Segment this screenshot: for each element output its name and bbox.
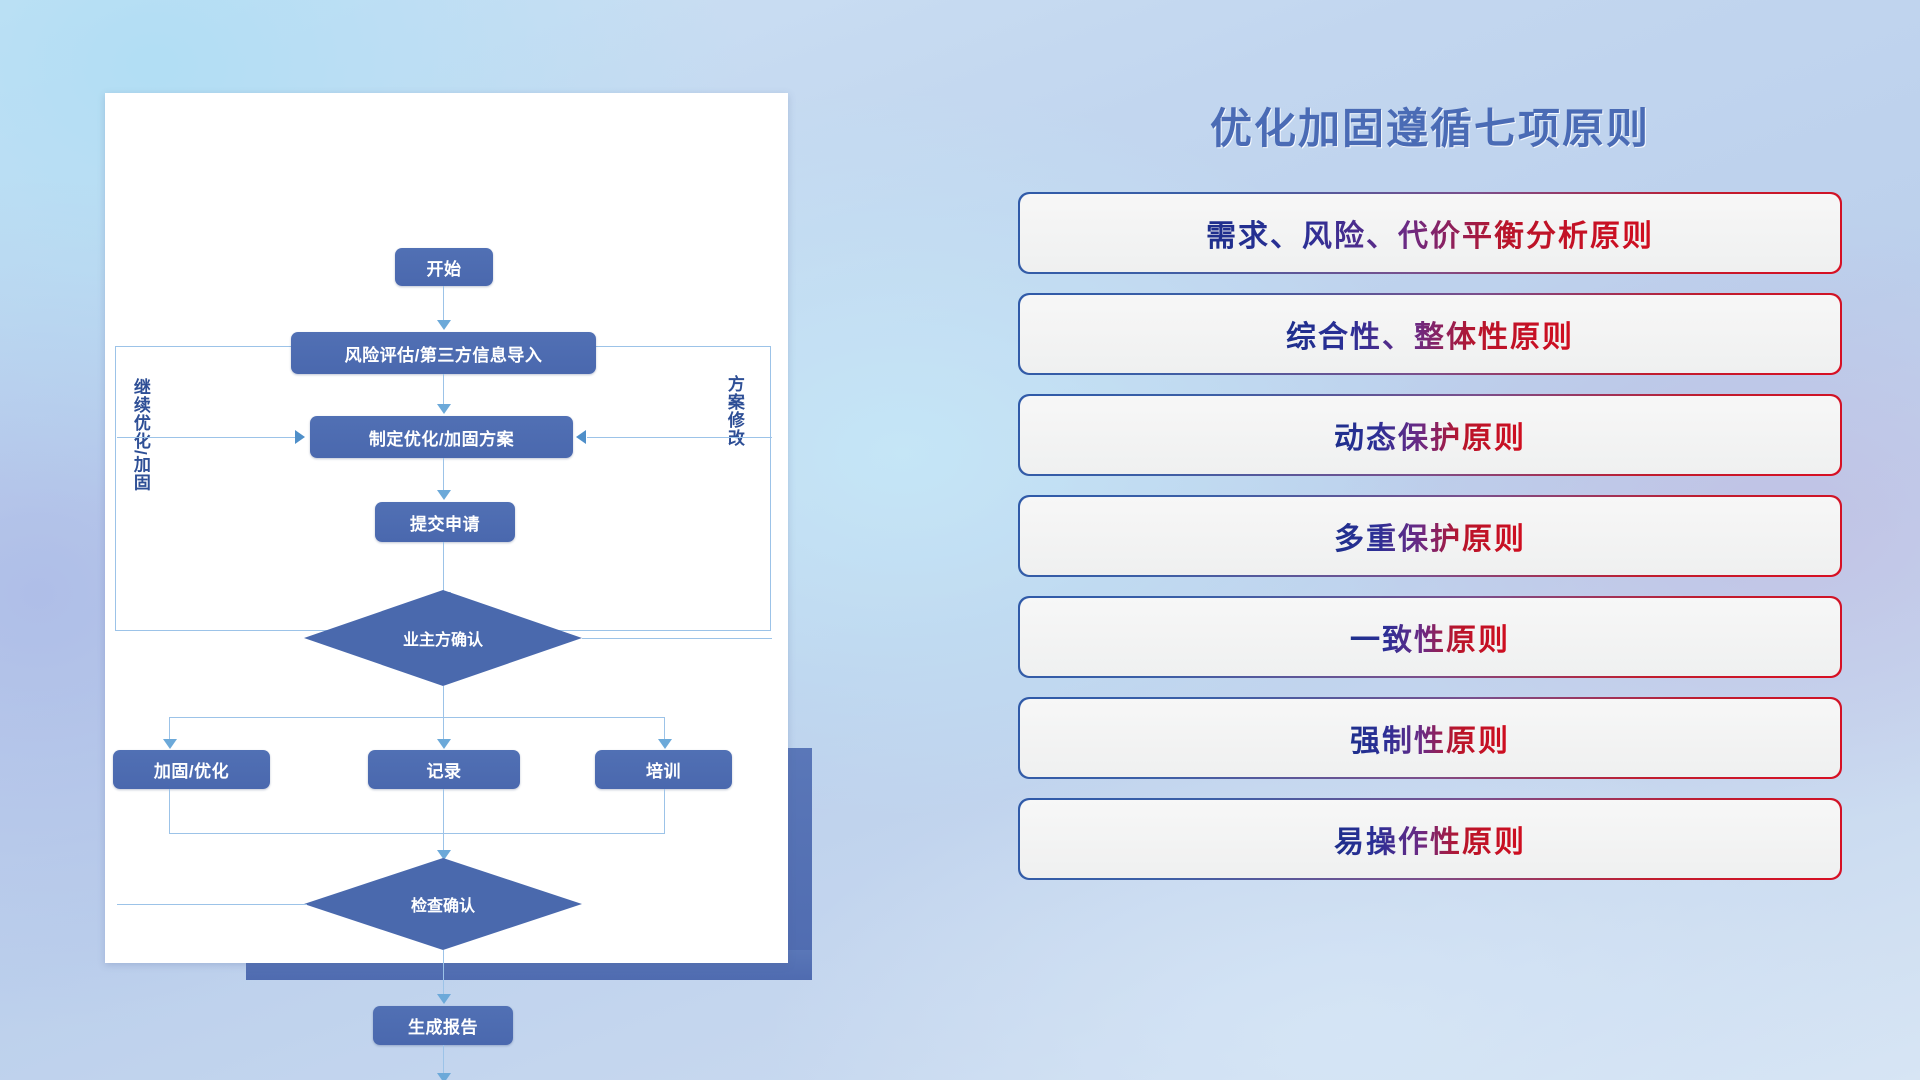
- edge-rightloop-to-plan: [587, 437, 772, 438]
- principles-panel: 优化加固遵循七项原则 需求、风险、代价平衡分析原则 综合性、整体性原则 动态保护…: [1020, 95, 1840, 1025]
- principle-label: 易操作性原则: [1334, 817, 1526, 861]
- principle-item[interactable]: 多重保护原则: [1020, 497, 1840, 575]
- flow-node-training[interactable]: 培训: [595, 750, 732, 789]
- arrowhead-down-icon: [437, 404, 451, 414]
- principle-label: 多重保护原则: [1334, 514, 1526, 558]
- principle-label: 强制性原则: [1350, 716, 1510, 760]
- edge-record-to-check: [443, 789, 444, 855]
- principle-item[interactable]: 动态保护原则: [1020, 396, 1840, 474]
- arrowhead-down-icon: [437, 739, 451, 749]
- edge-reinforce-down: [169, 789, 170, 834]
- principle-item[interactable]: 综合性、整体性原则: [1020, 295, 1840, 373]
- edge-risk-to-plan: [443, 374, 444, 406]
- arrowhead-down-icon: [437, 994, 451, 1004]
- principle-label: 需求、风险、代价平衡分析原则: [1206, 211, 1654, 255]
- arrowhead-down-icon: [163, 739, 177, 749]
- flow-node-risk-assessment[interactable]: 风险评估/第三方信息导入: [291, 332, 596, 374]
- principle-label: 综合性、整体性原则: [1286, 312, 1574, 356]
- principle-item[interactable]: 易操作性原则: [1020, 800, 1840, 878]
- flow-node-reinforce-optimize[interactable]: 加固/优化: [113, 750, 270, 789]
- principle-item[interactable]: 强制性原则: [1020, 699, 1840, 777]
- edge-merge-bus: [169, 833, 664, 834]
- arrowhead-right-icon: [295, 430, 305, 444]
- edge-check-to-report: [443, 950, 444, 998]
- edge-submit-to-owner: [443, 542, 444, 596]
- edge-training-down: [664, 789, 665, 834]
- principle-item[interactable]: 需求、风险、代价平衡分析原则: [1020, 194, 1840, 272]
- presentation-slide: 继续优化/加固 方案修改 开始 风险评估/第三方信息导入 制定优化/加固方案 提…: [0, 0, 1920, 1080]
- edge-split-bus: [169, 717, 664, 718]
- principles-panel-title: 优化加固遵循七项原则: [1020, 95, 1840, 156]
- arrowhead-down-icon: [437, 1073, 451, 1080]
- arrowhead-left-icon: [576, 430, 586, 444]
- flow-node-start[interactable]: 开始: [395, 248, 493, 286]
- edge-check-to-leftloop: [117, 904, 307, 905]
- principle-label: 一致性原则: [1350, 615, 1510, 659]
- loopback-frame-right-edge: [770, 346, 771, 631]
- arrowhead-down-icon: [658, 739, 672, 749]
- edge-label-continue-optimize: 继续优化/加固: [131, 378, 149, 492]
- flow-node-submit-application[interactable]: 提交申请: [375, 502, 515, 542]
- edge-leftloop-to-plan: [117, 437, 297, 438]
- arrowhead-down-icon: [437, 490, 451, 500]
- flow-node-make-plan[interactable]: 制定优化/加固方案: [310, 416, 573, 458]
- edge-owner-to-split: [443, 686, 444, 718]
- flowchart-card: 继续优化/加固 方案修改 开始 风险评估/第三方信息导入 制定优化/加固方案 提…: [105, 93, 788, 963]
- flow-decision-check-confirm[interactable]: 检查确认: [304, 858, 582, 950]
- flow-node-generate-report[interactable]: 生成报告: [373, 1006, 513, 1045]
- flow-node-record[interactable]: 记录: [368, 750, 520, 789]
- principle-label: 动态保护原则: [1334, 413, 1526, 457]
- principle-item[interactable]: 一致性原则: [1020, 598, 1840, 676]
- arrowhead-down-icon: [437, 320, 451, 330]
- edge-start-to-risk: [443, 286, 444, 322]
- edge-owner-to-rightloop: [582, 638, 772, 639]
- edge-plan-to-submit: [443, 458, 444, 492]
